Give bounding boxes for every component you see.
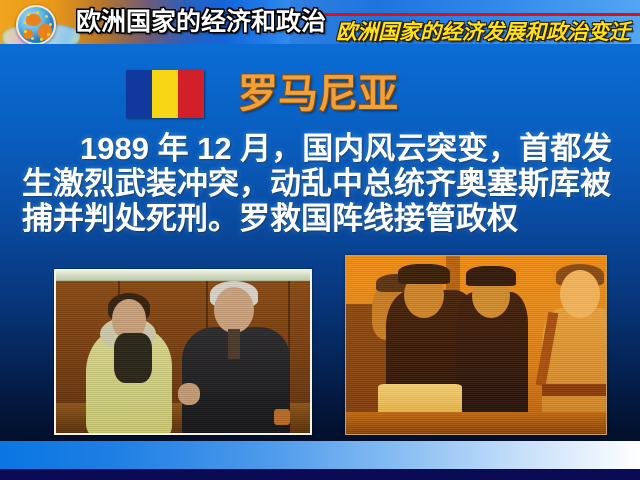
globe-icon xyxy=(16,5,56,44)
photo-military-officers xyxy=(345,255,607,435)
flag-stripe-blue xyxy=(126,70,152,118)
country-title: 罗马尼亚 xyxy=(238,74,398,114)
header-title-sub: 欧洲国家的经济发展和政治变迁 xyxy=(336,16,630,44)
flag-stripe-red xyxy=(178,70,204,118)
footer-bar xyxy=(0,469,640,480)
romania-flag xyxy=(126,70,204,118)
photo-ceausescu-couple xyxy=(54,269,312,435)
presentation-slide: 欧洲国家的经济和政治 欧洲国家的经济发展和政治变迁 罗马尼亚 1989 年 12… xyxy=(0,0,640,480)
header-title-main: 欧洲国家的经济和政治 xyxy=(76,2,326,38)
footer-gradient-strip xyxy=(0,441,640,469)
flag-stripe-yellow xyxy=(152,70,178,118)
slide-header-banner: 欧洲国家的经济和政治 欧洲国家的经济发展和政治变迁 xyxy=(0,0,640,44)
slide-body-text: 1989 年 12 月，国内风云突变，首都发生激烈武装冲突，动乱中总统齐奥塞斯库… xyxy=(22,131,630,236)
globe-map-icon xyxy=(2,0,82,44)
